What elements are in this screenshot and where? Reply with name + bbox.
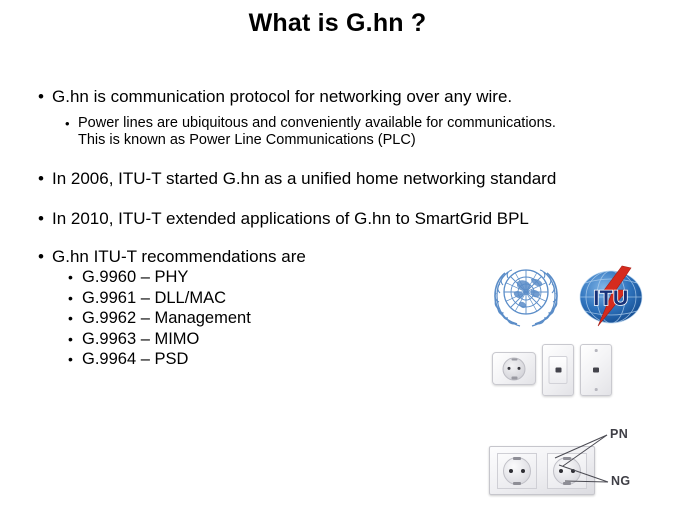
switch-plate-right xyxy=(580,344,612,396)
sub-bullet-text: Power lines are ubiquitous and convenien… xyxy=(78,115,556,131)
bullet-marker: • xyxy=(38,168,44,189)
bullet-text: In 2010, ITU-T extended applications of … xyxy=(52,209,529,228)
page-title: What is G.hn ? xyxy=(0,8,675,38)
jack-port-icon xyxy=(593,368,599,373)
bullet-marker: • xyxy=(38,208,44,229)
jack-port-icon xyxy=(555,368,561,373)
spacer xyxy=(38,229,638,246)
earth-clip-icon xyxy=(511,358,517,361)
socket-pin-hole xyxy=(517,367,520,370)
recommendation-text: G.9963 – MIMO xyxy=(82,330,199,348)
screw-icon xyxy=(595,349,598,352)
recommendation-text: G.9960 – PHY xyxy=(82,268,188,286)
label-pn: PN xyxy=(610,427,628,441)
schuko-socket-plate xyxy=(492,352,536,385)
bullet-text: G.hn is communication protocol for netwo… xyxy=(52,87,512,106)
recommendation-text: G.9961 – DLL/MAC xyxy=(82,289,226,307)
bullet-item-1: • G.hn is communication protocol for net… xyxy=(38,86,638,107)
socket-recess xyxy=(503,357,526,380)
socket-pin-hole xyxy=(508,367,511,370)
wall-plates-photo xyxy=(488,344,618,396)
earth-clip-icon xyxy=(511,377,517,380)
bullet-marker: • xyxy=(68,329,73,350)
spacer xyxy=(38,189,638,208)
logo-row: ITU xyxy=(487,262,647,332)
recommendation-text: G.9962 – Management xyxy=(82,309,251,327)
bullet-text: G.hn ITU-T recommendations are xyxy=(52,247,306,266)
bullet-marker: • xyxy=(38,246,44,267)
itu-logo: ITU xyxy=(575,264,647,328)
screw-icon xyxy=(595,388,598,391)
slide: What is G.hn ? • G.hn is communication p… xyxy=(0,0,675,506)
bullet-item-3: • In 2010, ITU-T extended applications o… xyxy=(38,208,638,229)
bullet-marker: • xyxy=(38,86,44,107)
bullet-marker: • xyxy=(68,349,73,370)
bullet-item-2: • In 2006, ITU-T started G.hn as a unifi… xyxy=(38,168,638,189)
label-ng: NG xyxy=(611,474,631,488)
rocker-switch xyxy=(549,356,568,384)
leader-lines xyxy=(487,424,675,504)
bullet-marker: • xyxy=(68,308,73,329)
bullet-text: In 2006, ITU-T started G.hn as a unified… xyxy=(52,169,556,188)
spacer xyxy=(38,149,638,168)
bullet-marker: • xyxy=(65,115,70,132)
sub-bullet-item-1: • Power lines are ubiquitous and conveni… xyxy=(38,115,638,132)
itu-wordmark: ITU xyxy=(593,287,628,310)
spacer xyxy=(38,107,638,115)
un-emblem-logo xyxy=(487,262,565,330)
sub-bullet-text: This is known as Power Line Communicatio… xyxy=(78,132,416,148)
double-outlet-diagram: PN NG xyxy=(487,424,675,504)
bullet-marker: • xyxy=(68,288,73,309)
recommendation-text: G.9964 – PSD xyxy=(82,350,188,368)
sub-bullet-item-1-cont: This is known as Power Line Communicatio… xyxy=(38,132,638,149)
bullet-marker: • xyxy=(68,267,73,288)
switch-plate-left xyxy=(542,344,574,396)
